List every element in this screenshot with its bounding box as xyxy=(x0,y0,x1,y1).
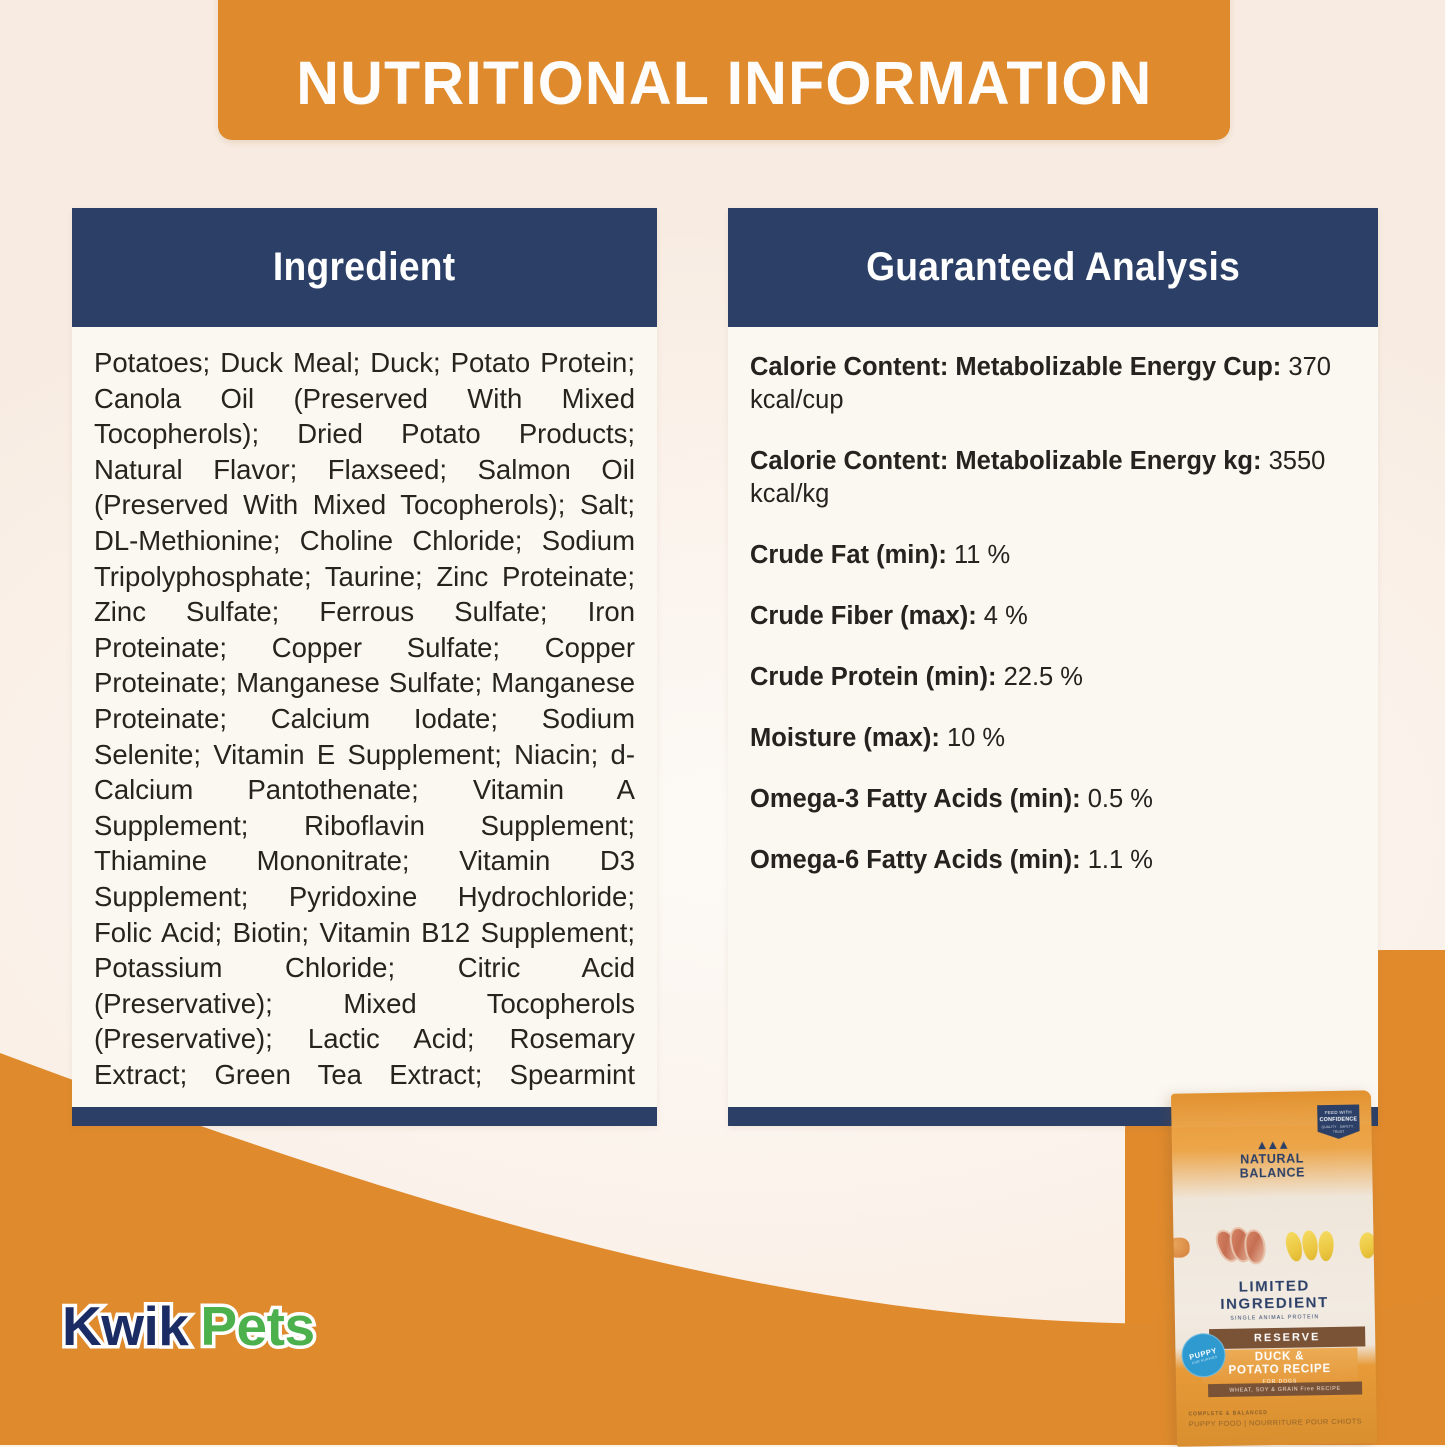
limited-subtitle: SINGLE ANIMAL PROTEIN xyxy=(1175,1313,1375,1322)
limited-line-2: INGREDIENT xyxy=(1174,1293,1374,1313)
feed-with-confidence-badge: FEED WITH CONFIDENCE QUALITY . SAFETY . … xyxy=(1317,1104,1360,1139)
potato-icon xyxy=(1301,1230,1320,1262)
guaranteed-analysis-card: Guaranteed Analysis Calorie Content: Met… xyxy=(728,208,1378,1126)
recipe-line-2: POTATO RECIPE xyxy=(1202,1363,1358,1379)
analysis-row-value: 10 % xyxy=(947,724,1005,752)
logo-word-pets: Pets xyxy=(200,1295,314,1357)
bottom-line-2: PUPPY FOOD | NOURRITURE POUR CHIOTS xyxy=(1189,1416,1362,1428)
analysis-row-label: Crude Protein (min): xyxy=(750,663,997,691)
analysis-row-label: Calorie Content: Metabolizable Energy Cu… xyxy=(750,353,1281,381)
ingredient-list-text: Potatoes; Duck Meal; Duck; Potato Protei… xyxy=(94,345,635,1092)
guaranteed-analysis-list: Calorie Content: Metabolizable Energy Cu… xyxy=(750,345,1356,877)
badge-line-1: FEED WITH xyxy=(1325,1110,1352,1115)
analysis-row-label: Crude Fat (min): xyxy=(750,541,947,569)
reserve-label: RESERVE xyxy=(1209,1326,1365,1349)
badge-line-2: CONFIDENCE xyxy=(1317,1116,1359,1125)
analysis-row-value: 22.5 % xyxy=(1004,663,1083,691)
guaranteed-analysis-card-body: Calorie Content: Metabolizable Energy Cu… xyxy=(728,327,1378,1107)
product-bag-image: FEED WITH CONFIDENCE QUALITY . SAFETY . … xyxy=(1171,1090,1377,1446)
brand-line-2: BALANCE xyxy=(1172,1165,1372,1182)
analysis-row-label: Calorie Content: Metabolizable Energy kg… xyxy=(750,447,1261,475)
kibble-icon xyxy=(1171,1237,1190,1257)
badge-line-3: QUALITY . SAFETY . TRUST xyxy=(1318,1125,1360,1135)
ingredient-card-header: Ingredient xyxy=(72,208,657,327)
analysis-row-value: 1.1 % xyxy=(1088,846,1153,874)
mountain-icon: ▲▲▲ xyxy=(1172,1138,1372,1151)
potato-icon xyxy=(1318,1231,1334,1261)
analysis-row-value: 0.5 % xyxy=(1088,785,1153,813)
natural-balance-logo: ▲▲▲ NATURAL BALANCE xyxy=(1172,1138,1373,1181)
product-bag-front: FEED WITH CONFIDENCE QUALITY . SAFETY . … xyxy=(1171,1090,1377,1446)
bag-bottom-text: COMPLETE & BALANCED PUPPY FOOD | NOURRIT… xyxy=(1188,1408,1362,1428)
ingredient-card-footer-bar xyxy=(72,1107,657,1126)
analysis-row: Calorie Content: Metabolizable Energy Cu… xyxy=(750,351,1356,417)
ingredient-card-body: Potatoes; Duck Meal; Duck; Potato Protei… xyxy=(72,327,657,1107)
page-title-banner: NUTRITIONAL INFORMATION xyxy=(218,0,1230,140)
page-title: NUTRITIONAL INFORMATION xyxy=(296,48,1152,118)
analysis-row: Crude Fat (min): 11 % xyxy=(750,539,1356,572)
potato-icon xyxy=(1283,1230,1304,1263)
analysis-row: Moisture (max): 10 % xyxy=(750,722,1356,755)
ingredient-header-label: Ingredient xyxy=(273,245,456,290)
analysis-row: Omega-3 Fatty Acids (min): 0.5 % xyxy=(750,783,1356,816)
guaranteed-analysis-card-header: Guaranteed Analysis xyxy=(728,208,1378,327)
brand-name: NATURAL BALANCE xyxy=(1172,1151,1372,1181)
analysis-row-value: 4 % xyxy=(984,602,1028,630)
analysis-row-label: Moisture (max): xyxy=(750,724,940,752)
recipe-block: RESERVE DUCK & POTATO RECIPE FOR DOGS WH… xyxy=(1201,1326,1366,1397)
kwik-pets-logo[interactable]: KwikPets xyxy=(62,1294,315,1358)
potato-icon xyxy=(1359,1232,1375,1258)
analysis-row: Crude Fiber (max): 4 % xyxy=(750,600,1356,633)
guaranteed-analysis-header-label: Guaranteed Analysis xyxy=(866,245,1240,290)
logo-word-kwik: Kwik xyxy=(62,1295,188,1357)
limited-ingredient-text: LIMITED INGREDIENT SINGLE ANIMAL PROTEIN xyxy=(1174,1276,1375,1322)
analysis-row-value: 11 % xyxy=(954,541,1010,569)
analysis-row-label: Omega-3 Fatty Acids (min): xyxy=(750,785,1081,813)
analysis-row: Calorie Content: Metabolizable Energy kg… xyxy=(750,445,1356,511)
analysis-row-label: Crude Fiber (max): xyxy=(750,602,977,630)
ingredient-card: Ingredient Potatoes; Duck Meal; Duck; Po… xyxy=(72,208,657,1126)
analysis-row: Omega-6 Fatty Acids (min): 1.1 % xyxy=(750,844,1356,877)
analysis-row: Crude Protein (min): 22.5 % xyxy=(750,661,1356,694)
analysis-row-label: Omega-6 Fatty Acids (min): xyxy=(750,846,1081,874)
grain-free-label: WHEAT, SOY & GRAIN Free RECIPE xyxy=(1208,1381,1362,1397)
food-imagery xyxy=(1173,1218,1374,1271)
